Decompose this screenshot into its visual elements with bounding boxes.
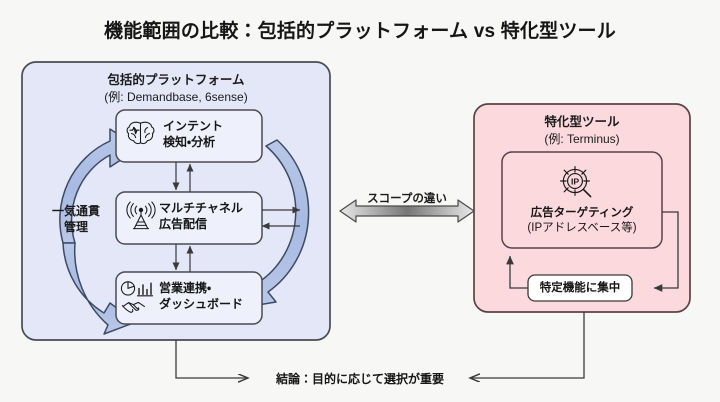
node-label-multichannel-line2: 広告配信 — [159, 216, 265, 232]
side-label-line1: 一気通貫 — [40, 203, 112, 219]
node-label-ad-targeting: 広告ターゲティング (IPアドレスベース等) — [502, 206, 662, 236]
node-label-intent-line1: インテント — [163, 118, 263, 134]
scope-arrow-label: スコープの違い — [340, 190, 474, 206]
left-panel-side-label: 一気通貫 管理 — [40, 203, 112, 235]
node-label-ad-targeting-line2: (IPアドレスベース等) — [502, 221, 662, 236]
conclusion-label: 結論：目的に応じて選択が重要 — [255, 370, 465, 387]
side-label-line2: 管理 — [40, 219, 112, 235]
left-panel-heading: 包括的プラットフォーム (例: Demandbase, 6sense) — [22, 72, 330, 106]
diagram-canvas: IP 機能範囲の比較：包括的プラットフォーム vs 特化型ツール 包括的プラット… — [0, 0, 720, 402]
node-label-intent-line2: 検知・分析 — [163, 134, 263, 150]
node-label-multichannel: マルチチャネル 広告配信 — [159, 200, 265, 232]
right-panel-heading-main: 特化型ツール — [474, 114, 690, 131]
left-panel-heading-sub: (例: Demandbase, 6sense) — [22, 89, 330, 106]
svg-text:IP: IP — [571, 177, 579, 187]
right-panel-heading: 特化型ツール (例: Terminus) — [474, 114, 690, 148]
page-title: 機能範囲の比較：包括的プラットフォーム vs 特化型ツール — [0, 16, 720, 43]
node-label-intent: インテント 検知・分析 — [163, 118, 263, 150]
right-panel-heading-sub: (例: Terminus) — [474, 131, 690, 148]
node-label-sales: 営業連携・ ダッシュボード — [159, 280, 265, 312]
focus-chip-label: 特定機能に集中 — [528, 281, 632, 296]
left-panel-heading-main: 包括的プラットフォーム — [22, 72, 330, 89]
node-label-multichannel-line1: マルチチャネル — [159, 200, 265, 216]
node-label-sales-line2: ダッシュボード — [159, 296, 265, 312]
node-label-sales-line1: 営業連携・ — [159, 280, 265, 296]
node-label-ad-targeting-line1: 広告ターゲティング — [502, 206, 662, 221]
